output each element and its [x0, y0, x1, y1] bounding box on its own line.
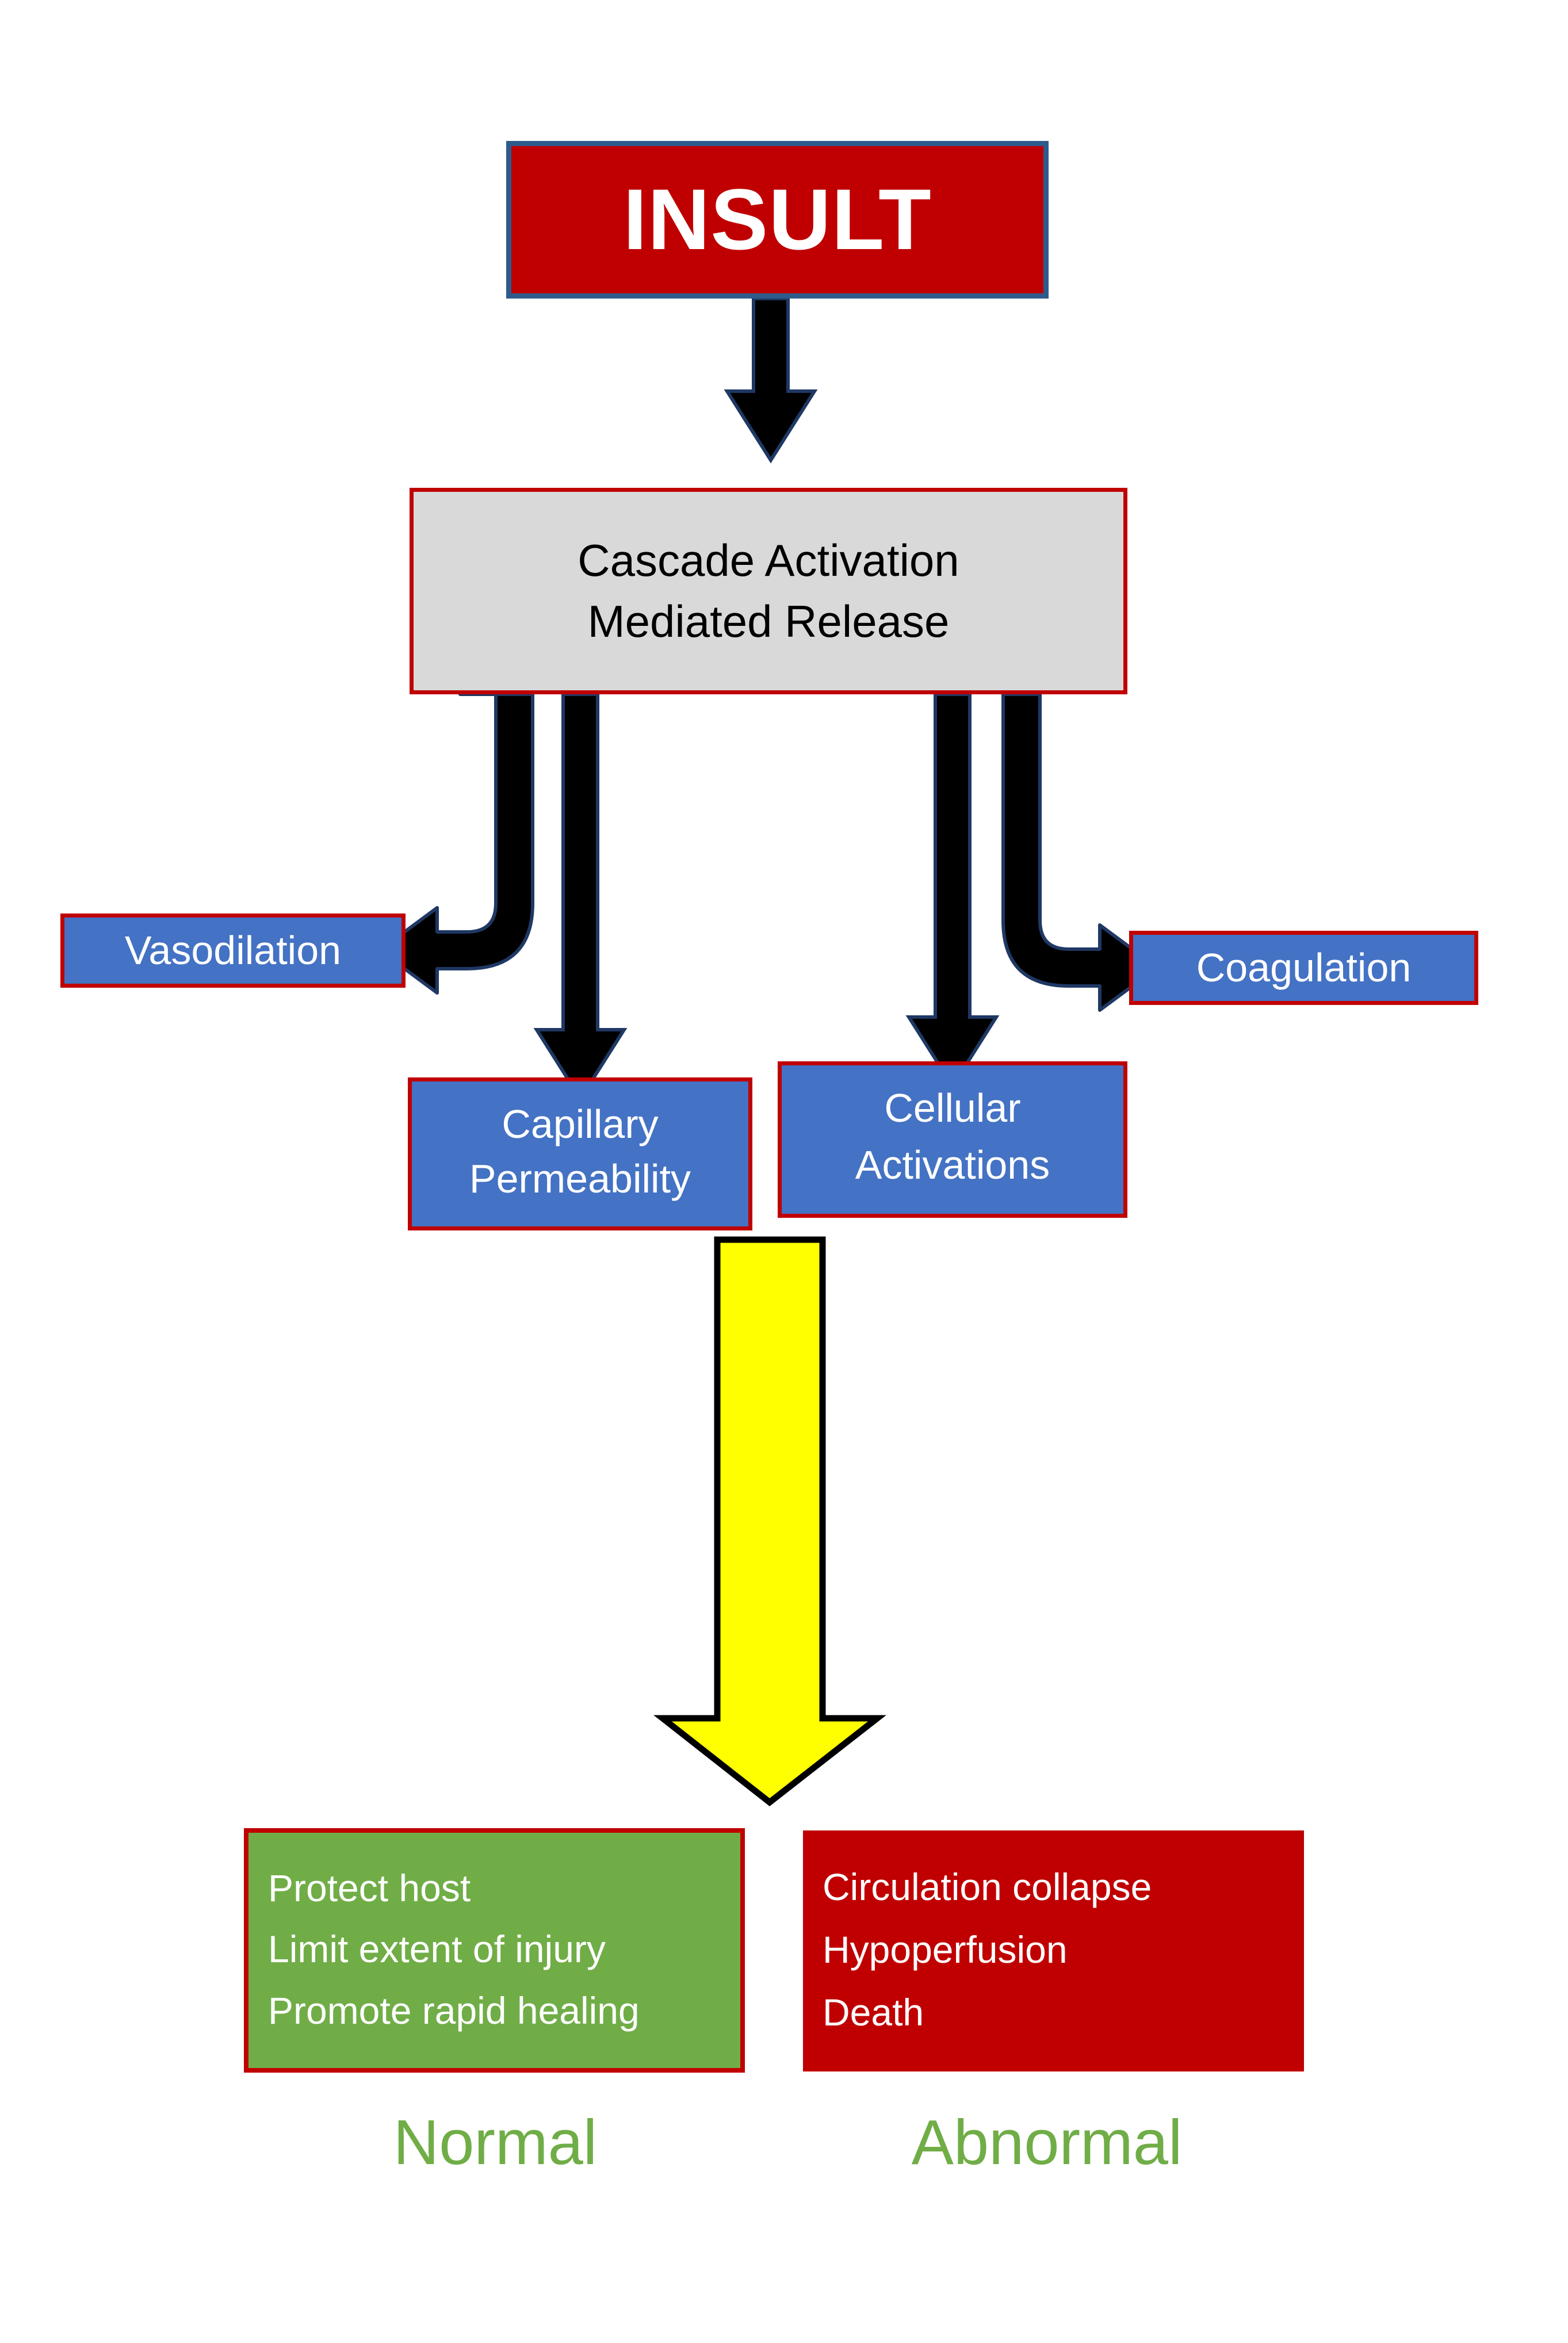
- connector-cascade-to-capillary: [537, 694, 624, 1099]
- node-cellular-activations[interactable]: Cellular Activations: [778, 1061, 1127, 1218]
- insult-label: INSULT: [623, 174, 932, 265]
- vasodilation-label: Vasodilation: [125, 928, 341, 973]
- node-vasodilation[interactable]: Vasodilation: [60, 913, 406, 988]
- node-cascade-activation[interactable]: Cascade Activation Mediated Release: [410, 488, 1127, 694]
- normal-outcome-item: Limit extent of injury: [268, 1928, 606, 1970]
- cellular-line-1: Cellular: [884, 1086, 1020, 1130]
- caption-normal: Normal: [357, 2111, 633, 2174]
- abnormal-outcome-item: Death: [823, 1992, 924, 2034]
- diagram-canvas: INSULT Cascade Activation Mediated Relea…: [0, 0, 1568, 2343]
- abnormal-outcome-item: Hypoperfusion: [823, 1929, 1068, 1971]
- cascade-line-1: Cascade Activation: [578, 530, 959, 591]
- capillary-line-2: Permeability: [469, 1157, 691, 1201]
- node-normal-outcome[interactable]: Protect host Limit extent of injury Prom…: [244, 1828, 745, 2073]
- connector-insult-to-cascade: [727, 299, 814, 460]
- normal-outcome-item: Protect host: [268, 1867, 471, 1909]
- node-abnormal-outcome[interactable]: Circulation collapse Hypoperfusion Death: [803, 1830, 1304, 2071]
- caption-abnormal: Abnormal: [857, 2111, 1237, 2174]
- cellular-line-2: Activations: [855, 1143, 1050, 1187]
- capillary-line-1: Capillary: [502, 1102, 658, 1146]
- cascade-line-2: Mediated Release: [588, 591, 950, 652]
- node-capillary-permeability[interactable]: Capillary Permeability: [408, 1077, 752, 1230]
- yellow-flow-arrow: [663, 1240, 877, 1802]
- normal-outcome-item: Promote rapid healing: [268, 1990, 640, 2032]
- connector-cascade-to-cellular: [909, 694, 996, 1086]
- node-coagulation[interactable]: Coagulation: [1129, 931, 1478, 1005]
- coagulation-label: Coagulation: [1196, 946, 1412, 990]
- node-insult[interactable]: INSULT: [506, 141, 1049, 299]
- abnormal-outcome-item: Circulation collapse: [823, 1866, 1152, 1908]
